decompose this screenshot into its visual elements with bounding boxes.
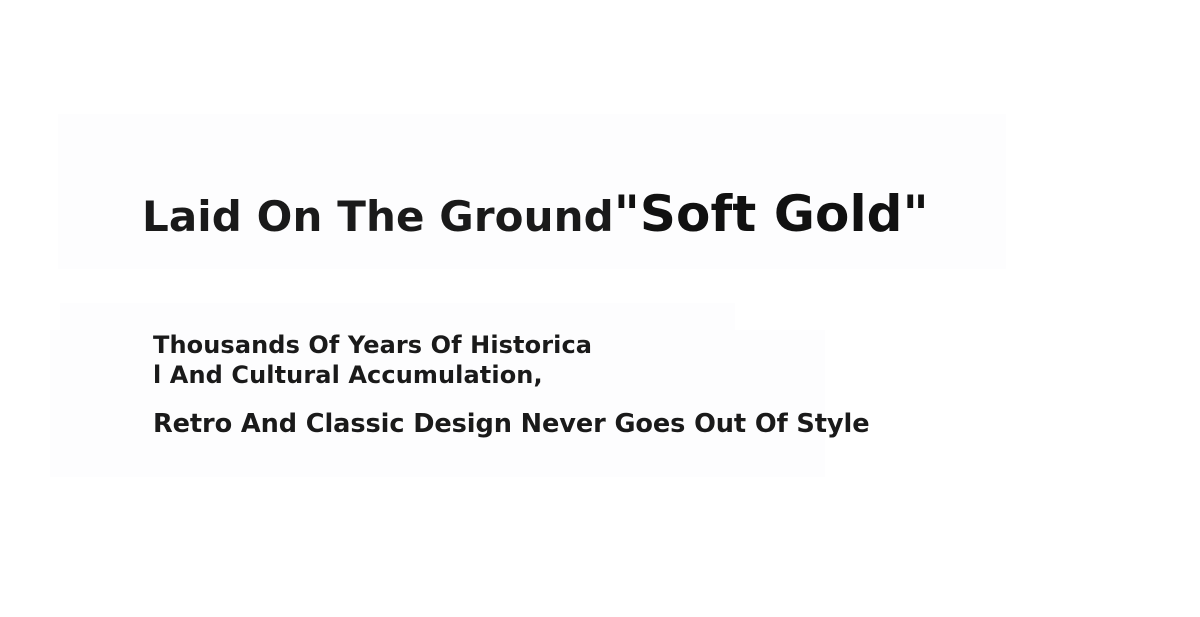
body-copy: Thousands Of Years Of Historical And Cul… [153,330,593,390]
page-title-accent: "Soft Gold" [614,185,929,243]
page-title: Laid On The Ground"Soft Gold" [142,189,929,239]
body-paragraph-primary: Thousands Of Years Of Historical And Cul… [153,330,593,390]
page-title-lead: Laid On The Ground [142,192,614,241]
promo-banner: Laid On The Ground"Soft Gold" Thousands … [0,0,1200,617]
body-paragraph-secondary: Retro And Classic Design Never Goes Out … [153,408,902,440]
